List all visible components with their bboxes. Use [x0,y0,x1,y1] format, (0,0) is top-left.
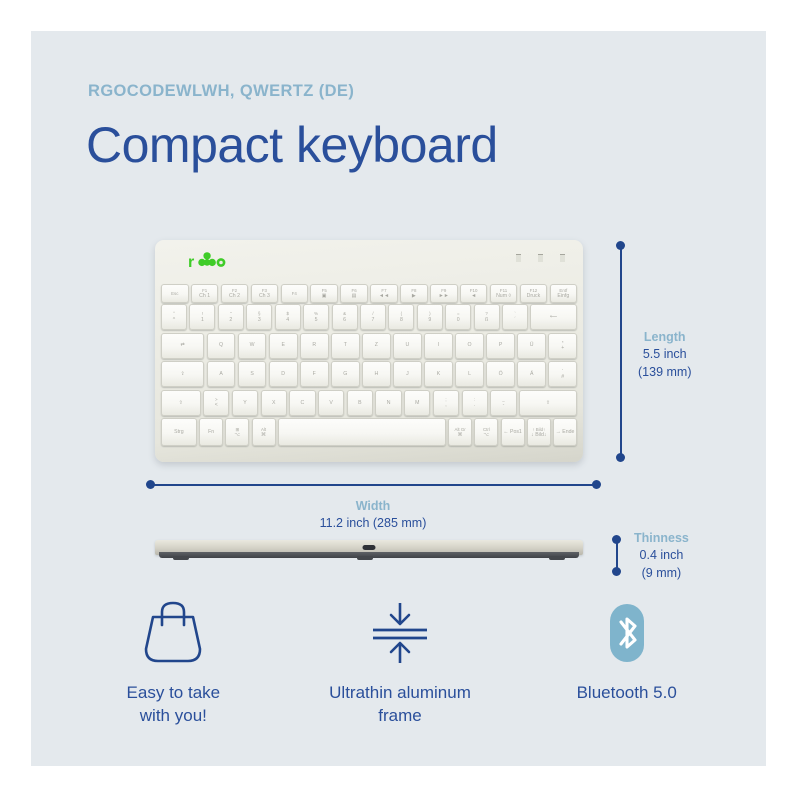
keyboard-key: Alt Gr⌘ [448,418,472,446]
key-legend-main: V [329,400,332,406]
keyboard-top-bezel: r [155,240,583,284]
keyboard-key: Q [207,333,236,359]
product-code-subtitle: RGOCODEWLWH, QWERTZ (DE) [88,82,354,101]
infographic-page: RGOCODEWLWH, QWERTZ (DE) Compact keyboar… [0,0,800,800]
keyboard-key: D [269,361,298,387]
keyboard-key: U [393,333,422,359]
keyboard-key: /7 [360,304,386,330]
key-legend-main: ⌘ [261,432,266,438]
key-legend-main: 9 [428,317,431,323]
keyboard-key: W [238,333,267,359]
keyboard-key: G [331,361,360,387]
key-row-qwertz: ⇄QWERTZUIOPÜ*+ [161,333,577,359]
key-legend-main: Y [243,400,246,406]
keyboard-key: Z [362,333,391,359]
feature-label: Easy to take with you! [127,681,221,728]
key-legend-main: 8 [400,317,403,323]
key-legend-main: Num ◊ [496,293,511,299]
side-foot [357,556,373,560]
page-title: Compact keyboard [86,116,498,174]
keyboard-key: H [362,361,391,387]
shopping-bag-icon [140,599,206,667]
keyboard-key: S [238,361,267,387]
keyboard-key: K [424,361,453,387]
key-legend-main: ⟵ [550,314,557,320]
key-legend-main: Druck [527,293,541,299]
key-legend-main: J [406,371,409,377]
led-indicators [516,254,565,262]
keyboard-key: >< [203,390,229,416]
keyboard-key: Ctrl⌥ [474,418,498,446]
keyboard-key: °^ [161,304,187,330]
key-row-bottom: ⇧><YXCVBNM;,:._-⇧ [161,390,577,416]
key-legend-main: ← Pos1 [503,429,521,435]
key-legend-main: ⌥ [234,432,240,438]
keyboard-key: ⇧ [519,390,577,416]
keyboard-key: %5 [303,304,329,330]
keyboard-key: F12Druck [520,284,548,303]
key-legend-main: T [344,342,347,348]
length-metric: (139 mm) [638,364,691,381]
key-legend-main: # [561,374,564,380]
keyboard-key: F [300,361,329,387]
feature-portability: Easy to take with you! [60,596,287,728]
keyboard-key: F5▣ [310,284,338,303]
key-legend-main: ´ [514,317,516,323]
thinness-caption: Thinness [634,530,689,547]
key-legend-main: ⇄ [180,342,184,348]
length-dim-label: Length 5.5 inch (139 mm) [638,329,691,381]
key-legend-main: Fn [208,429,214,435]
keyboard-key: O [455,333,484,359]
key-legend-main: Ch 1 [199,293,210,299]
key-legend-main: ►► [439,293,449,299]
key-legend-main: Ö [499,371,503,377]
keyboard-key: =0 [445,304,471,330]
key-legend-main: Ch 2 [229,293,240,299]
key-legend-main: ⇧ [179,400,183,406]
key-legend-main: F [313,371,316,377]
key-legend-main: - [503,402,505,408]
side-foot [173,556,189,560]
keyboard-key: '# [548,361,577,387]
keyboard-key: §3 [246,304,272,330]
key-legend-main: . [474,402,475,408]
keyboard-key: F6▤ [340,284,368,303]
key-legend-main: 3 [258,317,261,323]
key-legend-main: ◄ [471,293,476,299]
key-legend-main: D [281,371,285,377]
key-legend-main: ↓ Bild↓ [531,432,546,438]
keyboard-key: F4 [281,284,309,303]
thinness-imperial: 0.4 inch [634,547,689,564]
keyboard-key: F2Ch 2 [221,284,249,303]
keyboard-key: ;, [433,390,459,416]
key-legend-main: R [312,342,316,348]
key-legend-main: ▶ [412,293,416,299]
keyboard-key: EntfEinfg [550,284,578,303]
key-row-home: ⇪ASDFGHJKLÖÄ'# [161,361,577,387]
thinness-dim-dot-bottom [612,567,621,576]
keyboard-key: F9►► [430,284,458,303]
keyboard-key: C [289,390,315,416]
keyboard-key: ⇄ [161,333,204,359]
key-legend-main: ß [485,317,488,323]
keyboard-key: (8 [388,304,414,330]
keyboard-key: &6 [332,304,358,330]
keyboard-key: Alt⌘ [252,418,276,446]
feature-icon-wrap [367,596,433,670]
key-legend-main: ▤ [352,293,357,299]
key-legend-main: 1 [201,317,204,323]
keyboard-side-profile [155,538,583,564]
key-legend-main: 5 [315,317,318,323]
keyboard-key: F1Ch 1 [191,284,219,303]
keyboard-key: E [269,333,298,359]
key-legend-main: N [387,400,391,406]
keyboard-key [278,418,446,446]
width-caption: Width [0,498,746,515]
key-legend-main: ⇪ [180,371,184,377]
key-legend-main: G [343,371,347,377]
feature-label: Bluetooth 5.0 [577,681,677,704]
key-legend-main: 2 [229,317,232,323]
key-legend-main: 7 [372,317,375,323]
key-legend-main: ⇧ [546,400,550,406]
keyboard-keys: EscF1Ch 1F2Ch 2F3Ch 3F4F5▣F6▤F7◄◄F8▶F9►►… [161,284,577,454]
key-legend-main: Z [375,342,378,348]
keyboard-key: J [393,361,422,387]
keyboard-key: M [404,390,430,416]
key-legend-main: Q [219,342,223,348]
feature-label: Ultrathin aluminum frame [329,681,471,728]
key-row-modifiers: StrgFn⊞⌥Alt⌘Alt Gr⌘Ctrl⌥← Pos1↑ Bild↑↓ B… [161,418,577,446]
key-legend-main: M [415,400,419,406]
r-go-logo: r [188,250,232,272]
key-legend-main: B [358,400,361,406]
key-legend-main: A [219,371,222,377]
keyboard-key: Fn [199,418,223,446]
keyboard-key: :. [462,390,488,416]
keyboard-key: Ö [486,361,515,387]
keyboard-key: Ü [517,333,546,359]
keyboard-key: A [207,361,236,387]
key-legend-main: → Ende [556,429,575,435]
key-legend-main: P [499,342,502,348]
key-row-function: EscF1Ch 1F2Ch 2F3Ch 3F4F5▣F6▤F7◄◄F8▶F9►►… [161,284,577,301]
width-dim-label: Width 11.2 inch (285 mm) [0,498,746,533]
key-legend-main: K [437,371,440,377]
key-legend-top: Esc [171,291,178,296]
keyboard-key: ← Pos1 [501,418,525,446]
keyboard-key: P [486,333,515,359]
keyboard-key: Ä [517,361,546,387]
feature-icon-wrap [594,596,660,670]
keyboard-key: !1 [189,304,215,330]
keyboard-key: F10◄ [460,284,488,303]
keyboard-key: F7◄◄ [370,284,398,303]
led-indicator [560,254,565,262]
svg-text:r: r [188,253,195,271]
width-dim-dot-right [592,480,601,489]
feature-icon-wrap [140,596,206,670]
keyboard-key: Strg [161,418,197,446]
keyboard-key: )9 [417,304,443,330]
keyboard-key: ?ß [474,304,500,330]
keyboard-key: "2 [218,304,244,330]
length-caption: Length [638,329,691,346]
keyboard-key: ⊞⌥ [225,418,249,446]
key-legend-main: H [374,371,378,377]
features-row: Easy to take with you! Ultrathin aluminu… [60,596,740,728]
key-legend-main: ⌘ [458,432,463,438]
key-legend-main: U [406,342,410,348]
keyboard-key: F11Num ◊ [490,284,518,303]
keyboard-key: F3Ch 3 [251,284,279,303]
keyboard-key: F8▶ [400,284,428,303]
side-foot [549,556,565,560]
length-imperial: 5.5 inch [638,346,691,363]
key-legend-main: ▣ [322,293,327,299]
led-indicator [538,254,543,262]
key-legend-main: ◄◄ [379,293,389,299]
keyboard-key: X [261,390,287,416]
key-legend-main: S [250,371,253,377]
key-legend-main: ^ [173,317,175,323]
key-legend-top: F4 [292,291,297,296]
feature-ultrathin: Ultrathin aluminum frame [287,596,514,728]
keyboard-key: V [318,390,344,416]
key-legend-main: C [301,400,305,406]
key-legend-main: 6 [343,317,346,323]
key-legend-main: O [468,342,472,348]
key-legend-main: X [272,400,275,406]
keyboard-key: L [455,361,484,387]
keyboard-key: _- [490,390,516,416]
usb-c-port-icon [363,545,376,550]
keyboard-key: R [300,333,329,359]
key-row-numbers: °^!1"2§3$4%5&6/7(8)9=0?ß`´⟵ [161,304,577,330]
key-legend-main: Ä [530,371,533,377]
key-legend-main: Ch 3 [259,293,270,299]
keyboard-key: $4 [275,304,301,330]
key-legend-main: + [561,345,564,351]
keyboard-top-view: r EscF1Ch 1F2Ch 2F3Ch 3F4F5▣F6▤F7◄◄F8▶F9… [155,240,583,462]
keyboard-key: T [331,333,360,359]
key-legend-main: W [250,342,255,348]
key-legend-main: 4 [286,317,289,323]
key-legend-main: Strg [174,429,184,435]
key-legend-main: I [438,342,439,348]
key-legend-main: < [215,402,218,408]
key-legend-main: L [468,371,471,377]
key-legend-main: Einfg [557,293,569,299]
keyboard-key: B [347,390,373,416]
thinness-metric: (9 mm) [634,565,689,582]
keyboard-key: *+ [548,333,577,359]
thinness-dim-label: Thinness 0.4 inch (9 mm) [634,530,689,582]
width-dim-line [150,484,596,486]
keyboard-key: `´ [502,304,528,330]
keyboard-key: Esc [161,284,189,303]
length-dim-line [620,245,622,457]
key-legend-main: ⌥ [483,432,489,438]
keyboard-key: N [375,390,401,416]
keyboard-key: → Ende [553,418,577,446]
keyboard-key: ⇧ [161,390,201,416]
key-legend-main: 0 [457,317,460,323]
key-legend-main: , [445,402,446,408]
keyboard-key: I [424,333,453,359]
keyboard-key: ⇪ [161,361,204,387]
length-dim-dot-bottom [616,453,625,462]
led-indicator [516,254,521,262]
key-legend-main: E [281,342,284,348]
keyboard-key: ⟵ [530,304,576,330]
ultrathin-arrows-icon [367,599,433,667]
keyboard-key: ↑ Bild↑↓ Bild↓ [527,418,551,446]
bluetooth-icon [594,599,660,667]
feature-bluetooth: Bluetooth 5.0 [513,596,740,728]
keyboard-key: Y [232,390,258,416]
key-legend-main: Ü [530,342,534,348]
